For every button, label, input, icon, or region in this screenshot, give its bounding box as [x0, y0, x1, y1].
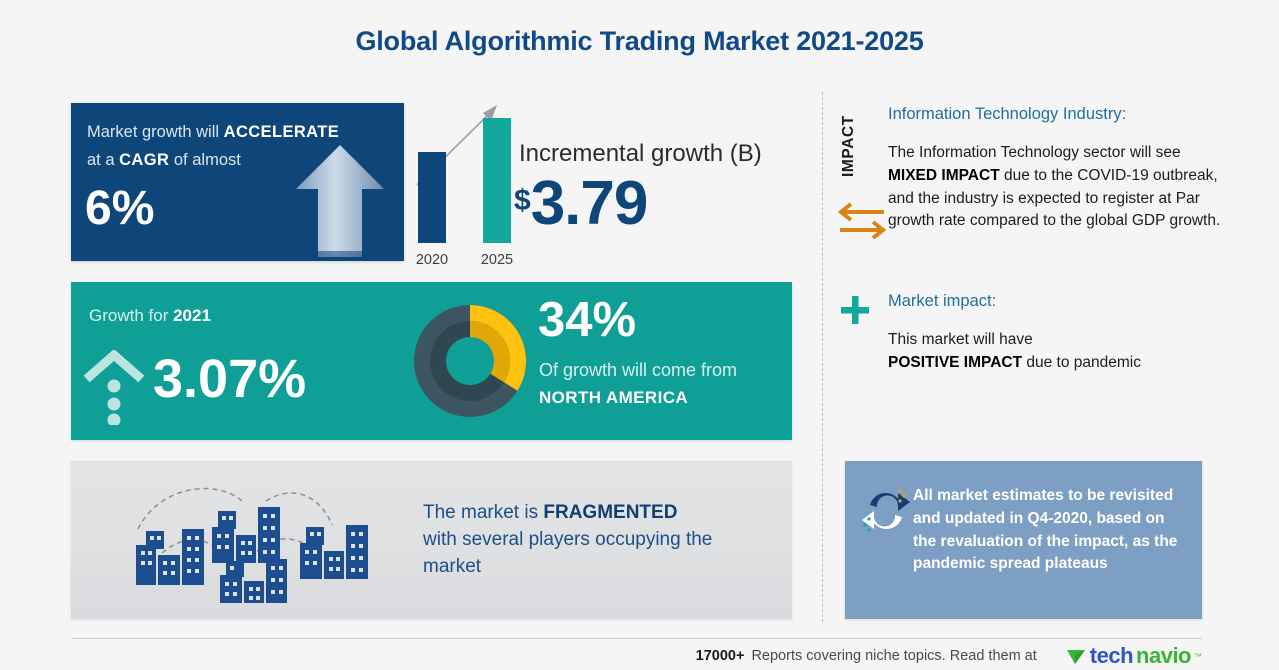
footer-text: Reports covering niche topics. Read them… — [751, 648, 1036, 664]
report-count: 17000+ — [696, 648, 745, 664]
bar-2025 — [483, 118, 511, 243]
cagr-card: Market growth will ACCELERATE at a CAGR … — [71, 103, 404, 261]
cagr-accelerate-word: ACCELERATE — [224, 123, 340, 141]
cagr-value: 6% — [85, 185, 154, 233]
refresh-cycle-icon — [860, 485, 912, 537]
growth-percentage: 3.07% — [153, 352, 306, 406]
two-way-arrows-icon — [836, 200, 888, 240]
north-america-share-value: 34% — [538, 296, 636, 345]
page-title: Global Algorithmic Trading Market 2021-2… — [0, 26, 1279, 57]
footer-divider — [71, 638, 1202, 639]
vertical-divider — [822, 92, 823, 622]
cagr-word: CAGR — [119, 151, 169, 169]
impact-vertical-label: IMPACT — [837, 104, 861, 188]
incremental-growth-chart: 2020 2025 Incremental growth (B) $3.79 — [405, 95, 805, 270]
market-body-part1: This market will have — [888, 331, 1033, 348]
fragmented-market-card: The market is FRAGMENTED with several pl… — [71, 461, 792, 619]
bar-label-2020: 2020 — [403, 252, 461, 268]
revisit-estimates-text: All market estimates to be revisited and… — [913, 485, 1188, 576]
cagr-line1-text: Market growth will — [87, 123, 224, 141]
plus-icon — [840, 295, 870, 325]
it-industry-body: The Information Technology sector will s… — [888, 142, 1233, 233]
market-impact-heading: Market impact: — [888, 292, 996, 311]
mixed-impact-word: MIXED IMPACT — [888, 167, 1000, 184]
growth-for-text: Growth for — [89, 306, 173, 325]
fragmented-market-text: The market is FRAGMENTED with several pl… — [423, 500, 768, 581]
cagr-line2-post: of almost — [169, 151, 241, 169]
fragmented-word: FRAGMENTED — [543, 502, 677, 523]
bar-label-2025: 2025 — [468, 252, 526, 268]
logo-text-navio: navio — [1136, 645, 1191, 667]
infographic-canvas: Global Algorithmic Trading Market 2021-2… — [0, 0, 1279, 670]
technavio-arrow-icon — [1066, 646, 1087, 667]
currency-symbol: $ — [514, 184, 531, 217]
share-subtitle: Of growth will come from — [539, 360, 737, 381]
incremental-number: 3.79 — [531, 169, 648, 238]
fragmented-post: with several players occupying the marke… — [423, 529, 712, 577]
growth-for-label: Growth for 2021 — [89, 306, 211, 326]
cagr-line-1: Market growth will ACCELERATE — [87, 123, 339, 142]
technavio-logo[interactable]: technavio™ — [1066, 645, 1202, 667]
incremental-growth-label: Incremental growth (B) — [519, 140, 762, 168]
revisit-estimates-card: All market estimates to be revisited and… — [845, 461, 1202, 619]
share-region: NORTH AMERICA — [539, 388, 688, 408]
logo-trademark: ™ — [1194, 652, 1202, 661]
it-body-part1: The Information Technology sector will s… — [888, 144, 1181, 161]
market-body-part2: due to pandemic — [1022, 354, 1141, 371]
market-impact-body: This market will have POSITIVE IMPACT du… — [888, 328, 1218, 375]
incremental-growth-value: $3.79 — [514, 173, 647, 235]
logo-text-tech: tech — [1090, 645, 1133, 667]
arrow-up-icon — [294, 141, 386, 261]
cagr-line2-pre: at a — [87, 151, 119, 169]
city-buildings-icon — [116, 479, 376, 604]
north-america-donut-chart — [414, 297, 526, 425]
fragmented-pre: The market is — [423, 502, 543, 523]
positive-impact-word: POSITIVE IMPACT — [888, 354, 1022, 371]
footer: 17000+ Reports covering niche topics. Re… — [0, 642, 1202, 670]
it-industry-heading: Information Technology Industry: — [888, 105, 1126, 124]
bar-2020 — [418, 152, 446, 243]
cagr-line-2: at a CAGR of almost — [87, 151, 241, 170]
chevron-up-dots-icon — [83, 350, 145, 425]
growth-for-year: 2021 — [173, 306, 211, 325]
growth-card: Growth for 2021 3.07% 34% Of growth — [71, 282, 792, 440]
